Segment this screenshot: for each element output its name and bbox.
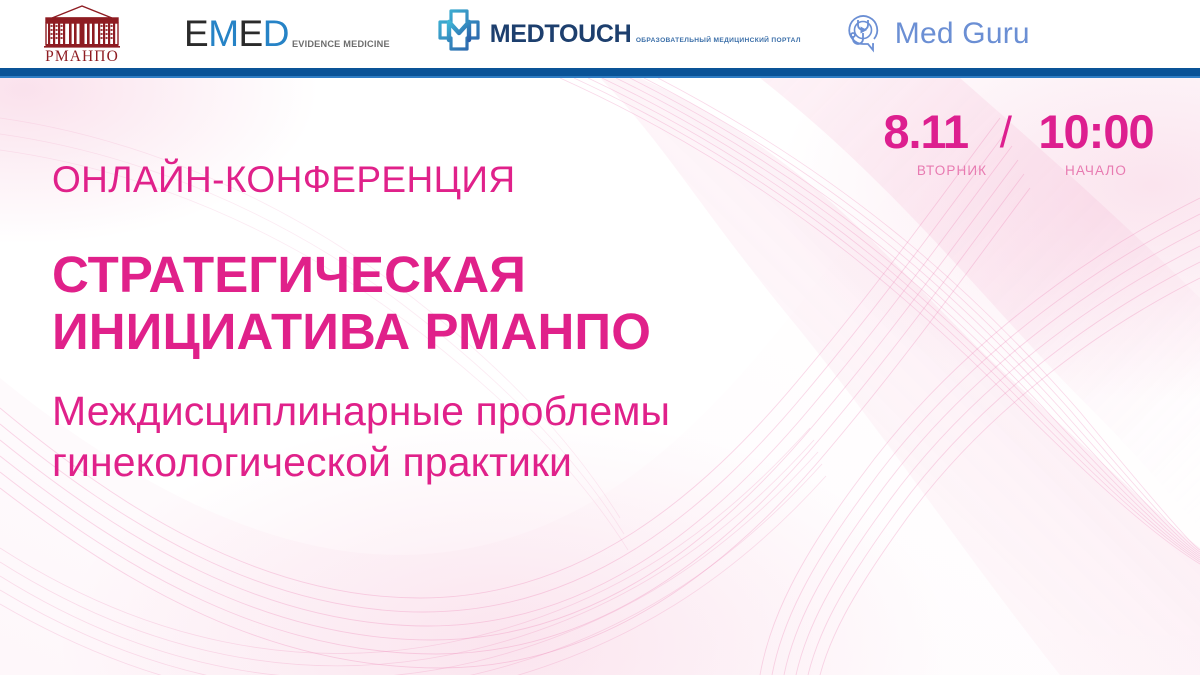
event-weekday-label: ВТОРНИК (892, 164, 1012, 178)
logo-rmanpo-wordmark: РМАНПО (45, 49, 119, 65)
event-subtitle: Междисциплинарные проблемы гинекологичес… (52, 386, 670, 488)
schedule-separator: / (1000, 111, 1012, 155)
medical-cross-m-icon (436, 8, 482, 61)
event-title-line-2: ИНИЦИАТИВА РМАНПО (52, 303, 670, 360)
logo-emed-wordmark: EMED (184, 16, 289, 51)
conference-announcement-poster: РМАНПО EMED EVIDENCE MEDICINE (0, 0, 1200, 675)
logo-emed[interactable]: EMED EVIDENCE MEDICINE (184, 16, 390, 51)
emed-letter-d: D (263, 13, 289, 54)
emed-letter-e1: E (184, 13, 208, 54)
logo-medtouch-wordmark: MEDTOUCH (490, 20, 632, 48)
event-text-block: ОНЛАЙН-КОНФЕРЕНЦИЯ СТРАТЕГИЧЕСКАЯ ИНИЦИА… (52, 160, 670, 488)
logo-medguru[interactable]: Med Guru (841, 9, 1030, 60)
event-subtitle-line-1: Междисциплинарные проблемы (52, 386, 670, 437)
logo-medtouch[interactable]: MEDTOUCH ОБРАЗОВАТЕЛЬНЫЙ МЕДИЦИНСКИЙ ПОР… (436, 8, 801, 61)
schedule-labels-row: ВТОРНИК НАЧАЛО (866, 164, 1166, 178)
event-subtitle-line-2: гинекологической практики (52, 437, 670, 488)
event-date: 8.11 (866, 108, 986, 155)
header-blue-divider-accent (0, 76, 1200, 78)
event-schedule-block: 8.11 / 10:00 ВТОРНИК НАЧАЛО (866, 108, 1166, 178)
emed-letter-m: M (208, 13, 238, 54)
stethoscope-play-icon (841, 9, 885, 60)
logo-medguru-wordmark: Med Guru (895, 19, 1030, 49)
event-time: 10:00 (1026, 108, 1166, 155)
header-blue-divider (0, 68, 1200, 76)
event-kicker: ОНЛАЙН-КОНФЕРЕНЦИЯ (52, 160, 670, 200)
event-start-label: НАЧАЛО (1026, 164, 1166, 178)
academy-building-icon (36, 4, 128, 48)
event-title-line-1: СТРАТЕГИЧЕСКАЯ (52, 246, 670, 303)
logo-medtouch-tagline: ОБРАЗОВАТЕЛЬНЫЙ МЕДИЦИНСКИЙ ПОРТАЛ (636, 37, 801, 44)
logo-emed-tagline: EVIDENCE MEDICINE (292, 39, 390, 49)
partner-logo-strip: РМАНПО EMED EVIDENCE MEDICINE (0, 0, 1200, 68)
logo-rmanpo[interactable]: РМАНПО (36, 4, 128, 65)
logo-medtouch-text: MEDTOUCH ОБРАЗОВАТЕЛЬНЫЙ МЕДИЦИНСКИЙ ПОР… (490, 22, 801, 47)
event-title: СТРАТЕГИЧЕСКАЯ ИНИЦИАТИВА РМАНПО (52, 246, 670, 360)
schedule-values-row: 8.11 / 10:00 (866, 108, 1166, 156)
emed-letter-e2: E (239, 13, 263, 54)
